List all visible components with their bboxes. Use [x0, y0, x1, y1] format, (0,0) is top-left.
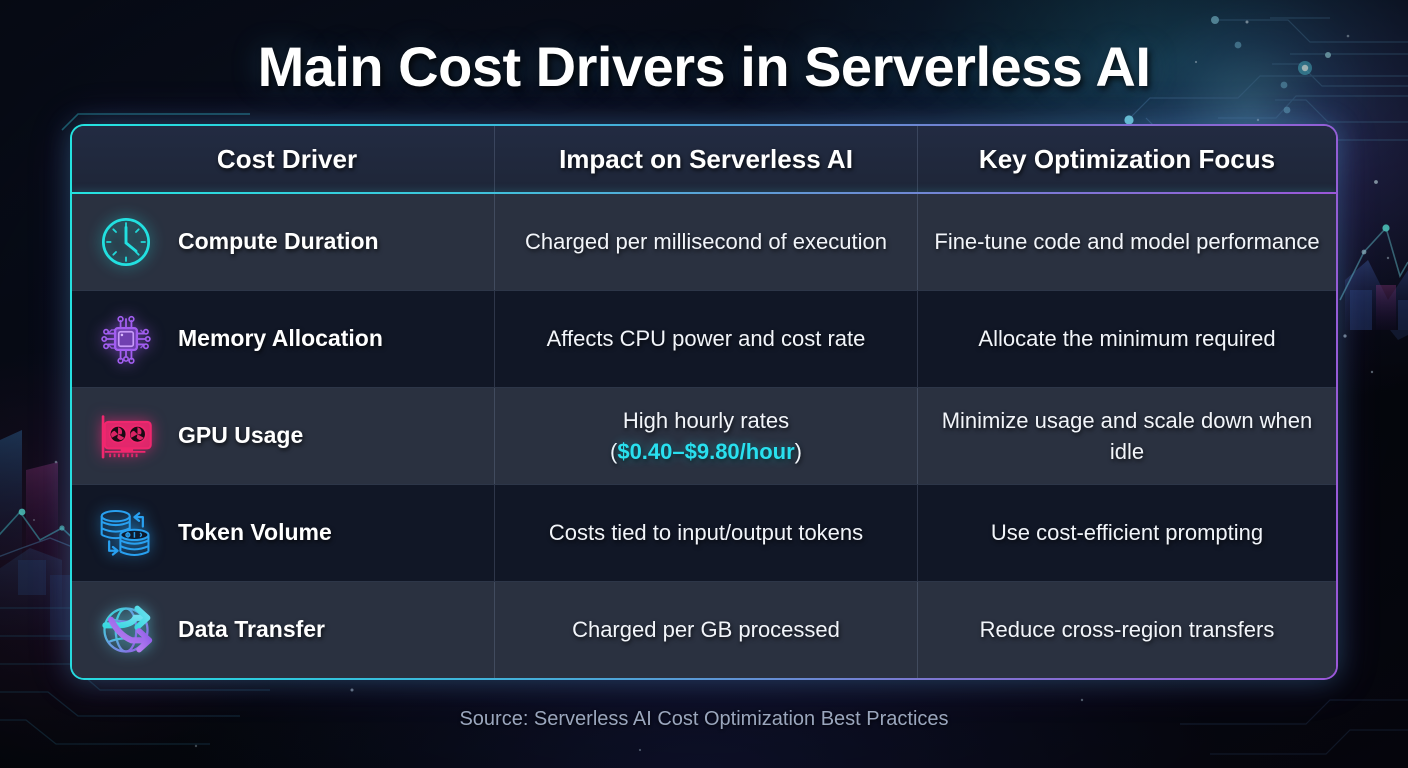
impact-text: Charged per GB processed: [509, 614, 903, 645]
row-driver-cell: Memory Allocation: [72, 291, 494, 387]
row-driver-cell: Compute Duration: [72, 194, 494, 290]
table-row: Token Volume Costs tied to input/output …: [72, 485, 1336, 581]
price-range-highlight: $0.40–$9.80/hour: [617, 439, 794, 464]
driver-label: GPU Usage: [178, 422, 303, 450]
cost-drivers-table: Cost Driver Impact on Serverless AI Key …: [72, 126, 1336, 678]
impact-text: High hourly rates ($0.40–$9.80/hour): [509, 405, 903, 467]
header-label: Cost Driver: [94, 144, 480, 175]
table-header-row: Cost Driver Impact on Serverless AI Key …: [72, 126, 1336, 192]
driver-label: Compute Duration: [178, 228, 379, 256]
clock-icon: [94, 210, 158, 274]
header-cell-cost-driver: Cost Driver: [72, 126, 494, 192]
graphics-card-icon: [94, 404, 158, 468]
focus-text: Minimize usage and scale down when idle: [932, 405, 1322, 467]
row-impact-cell: Affects CPU power and cost rate: [495, 291, 917, 387]
source-caption: Source: Serverless AI Cost Optimization …: [0, 708, 1408, 731]
header-label: Key Optimization Focus: [932, 144, 1322, 175]
table-row: Compute Duration Charged per millisecond…: [72, 194, 1336, 290]
row-impact-cell: Costs tied to input/output tokens: [495, 485, 917, 581]
header-cell-focus: Key Optimization Focus: [918, 126, 1336, 192]
focus-text: Use cost-efficient prompting: [932, 517, 1322, 548]
row-focus-cell: Minimize usage and scale down when idle: [918, 388, 1336, 484]
globe-transfer-icon: [94, 598, 158, 662]
impact-text: Costs tied to input/output tokens: [509, 517, 903, 548]
paren-close: ): [795, 439, 802, 464]
table-row: Data Transfer Charged per GB processed R…: [72, 582, 1336, 678]
driver-label: Token Volume: [178, 519, 332, 547]
table-row: Memory Allocation Affects CPU power and …: [72, 291, 1336, 387]
page-title: Main Cost Drivers in Serverless AI: [0, 34, 1408, 99]
focus-text: Fine-tune code and model performance: [932, 226, 1322, 257]
row-impact-cell: High hourly rates ($0.40–$9.80/hour): [495, 388, 917, 484]
driver-label: Data Transfer: [178, 616, 325, 644]
coin-stack-front: [120, 530, 148, 555]
header-cell-impact: Impact on Serverless AI: [495, 126, 917, 192]
focus-text: Reduce cross-region transfers: [932, 614, 1322, 645]
header-label: Impact on Serverless AI: [509, 144, 903, 175]
row-driver-cell: Token Volume: [72, 485, 494, 581]
row-impact-cell: Charged per millisecond of execution: [495, 194, 917, 290]
row-focus-cell: Allocate the minimum required: [918, 291, 1336, 387]
row-driver-cell: GPU Usage: [72, 388, 494, 484]
row-driver-cell: Data Transfer: [72, 582, 494, 678]
row-focus-cell: Fine-tune code and model performance: [918, 194, 1336, 290]
token-coins-icon: [94, 501, 158, 565]
impact-text: Charged per millisecond of execution: [509, 226, 903, 257]
impact-text: Affects CPU power and cost rate: [509, 323, 903, 354]
row-focus-cell: Reduce cross-region transfers: [918, 582, 1336, 678]
row-impact-cell: Charged per GB processed: [495, 582, 917, 678]
driver-label: Memory Allocation: [178, 325, 383, 353]
table-row: GPU Usage High hourly rates ($0.40–$9.80…: [72, 388, 1336, 484]
cpu-chip-icon: [94, 307, 158, 371]
focus-text: Allocate the minimum required: [932, 323, 1322, 354]
cost-drivers-table-border: Cost Driver Impact on Serverless AI Key …: [70, 124, 1338, 680]
row-focus-cell: Use cost-efficient prompting: [918, 485, 1336, 581]
impact-prefix: High hourly rates: [623, 408, 789, 433]
